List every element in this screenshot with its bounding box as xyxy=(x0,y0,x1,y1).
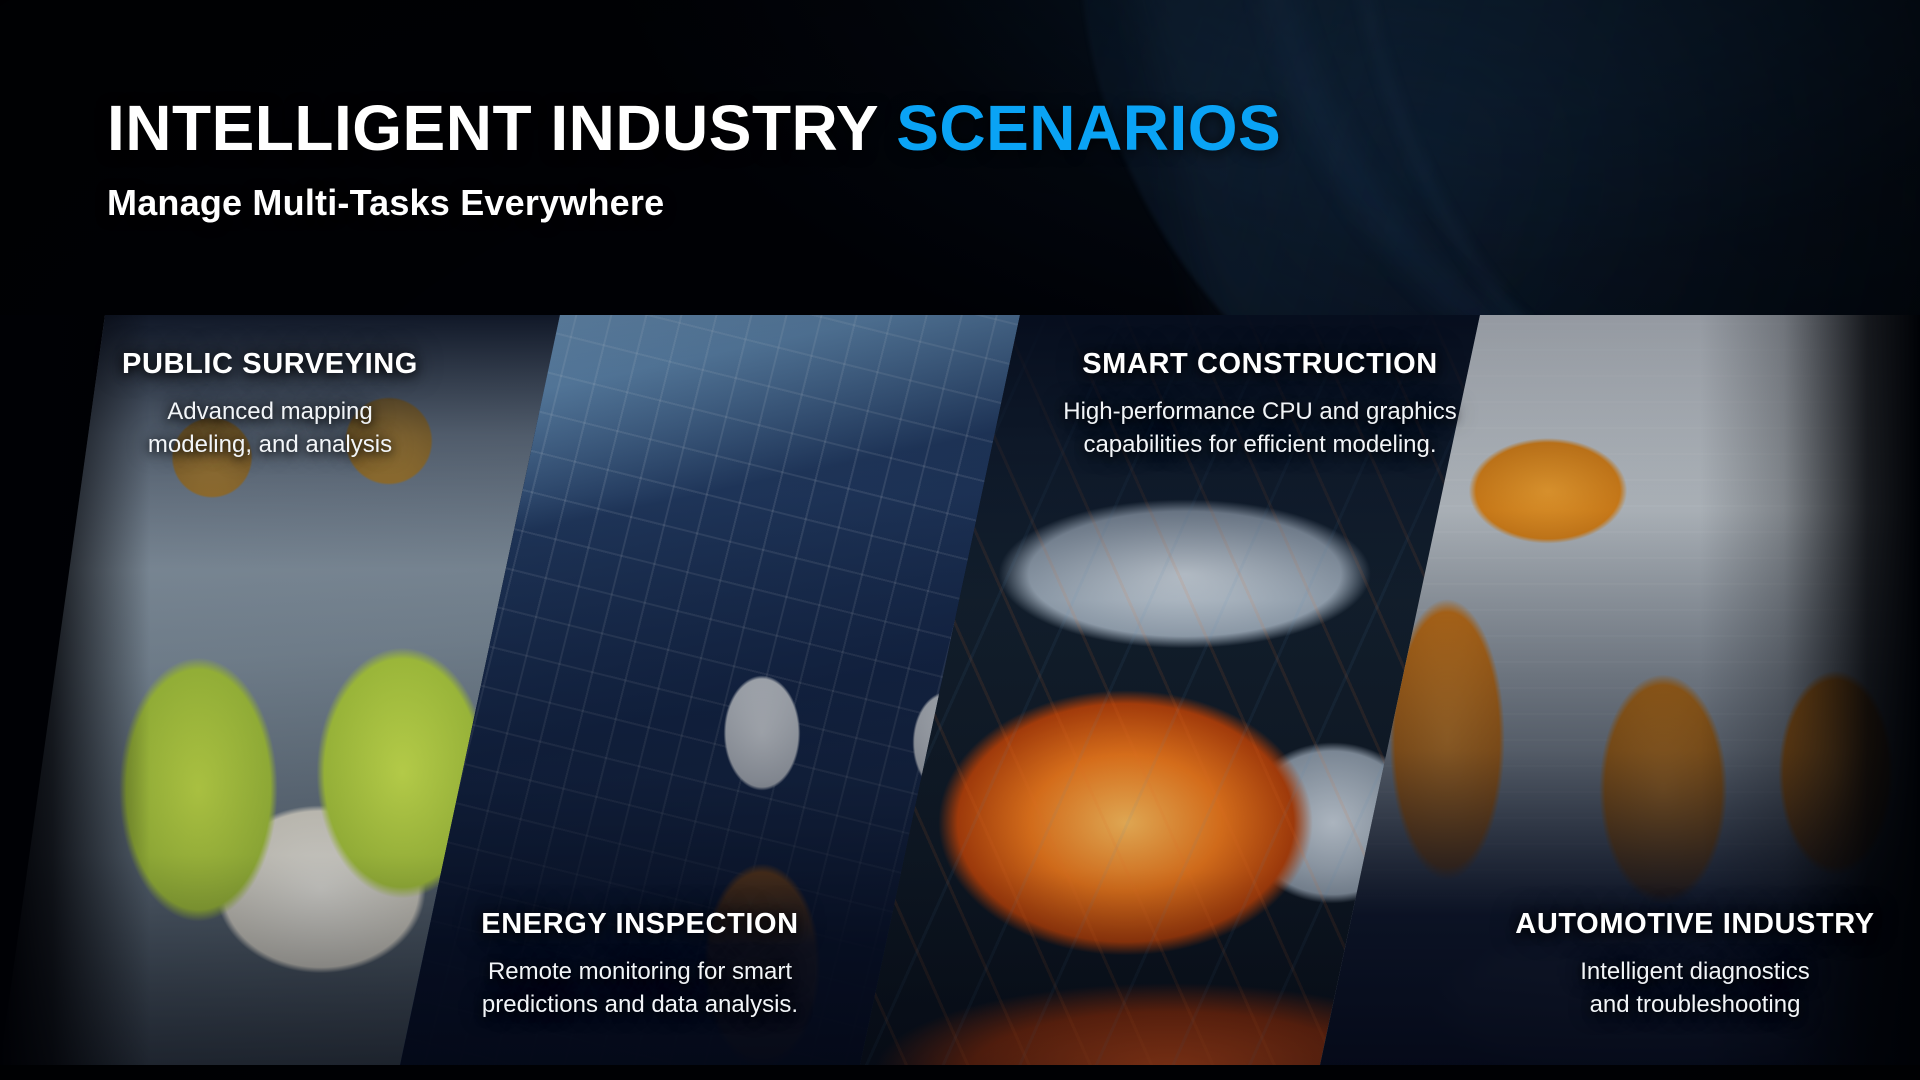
caption-line: modeling, and analysis xyxy=(60,428,480,461)
caption-line: High-performance CPU and graphics xyxy=(1010,395,1510,428)
caption-body-energy-inspection: Remote monitoring for smart predictions … xyxy=(400,955,880,1021)
caption-line: predictions and data analysis. xyxy=(400,988,880,1021)
caption-line: and troubleshooting xyxy=(1460,988,1920,1021)
caption-line: Intelligent diagnostics xyxy=(1460,955,1920,988)
caption-body-smart-construction: High-performance CPU and graphics capabi… xyxy=(1010,395,1510,461)
caption-body-public-surveying: Advanced mapping modeling, and analysis xyxy=(60,395,480,461)
caption-title-public-surveying: PUBLIC SURVEYING xyxy=(60,348,480,381)
caption-smart-construction: SMART CONSTRUCTION High-performance CPU … xyxy=(1010,348,1510,461)
page-title: INTELLIGENT INDUSTRY SCENARIOS xyxy=(107,96,1281,160)
caption-line: Remote monitoring for smart xyxy=(400,955,880,988)
header-block: INTELLIGENT INDUSTRY SCENARIOS Manage Mu… xyxy=(107,96,1281,224)
slide-canvas: INTELLIGENT INDUSTRY SCENARIOS Manage Mu… xyxy=(0,0,1920,1080)
page-subtitle: Manage Multi-Tasks Everywhere xyxy=(107,182,1281,224)
page-title-main: INTELLIGENT INDUSTRY xyxy=(107,92,896,164)
caption-energy-inspection: ENERGY INSPECTION Remote monitoring for … xyxy=(400,908,880,1021)
caption-automotive-industry: AUTOMOTIVE INDUSTRY Intelligent diagnost… xyxy=(1460,908,1920,1021)
caption-title-automotive-industry: AUTOMOTIVE INDUSTRY xyxy=(1460,908,1920,941)
caption-body-automotive-industry: Intelligent diagnostics and troubleshoot… xyxy=(1460,955,1920,1021)
caption-public-surveying: PUBLIC SURVEYING Advanced mapping modeli… xyxy=(60,348,480,461)
caption-title-smart-construction: SMART CONSTRUCTION xyxy=(1010,348,1510,381)
caption-title-energy-inspection: ENERGY INSPECTION xyxy=(400,908,880,941)
caption-line: Advanced mapping xyxy=(60,395,480,428)
caption-line: capabilities for efficient modeling. xyxy=(1010,428,1510,461)
page-title-accent: SCENARIOS xyxy=(896,92,1281,164)
